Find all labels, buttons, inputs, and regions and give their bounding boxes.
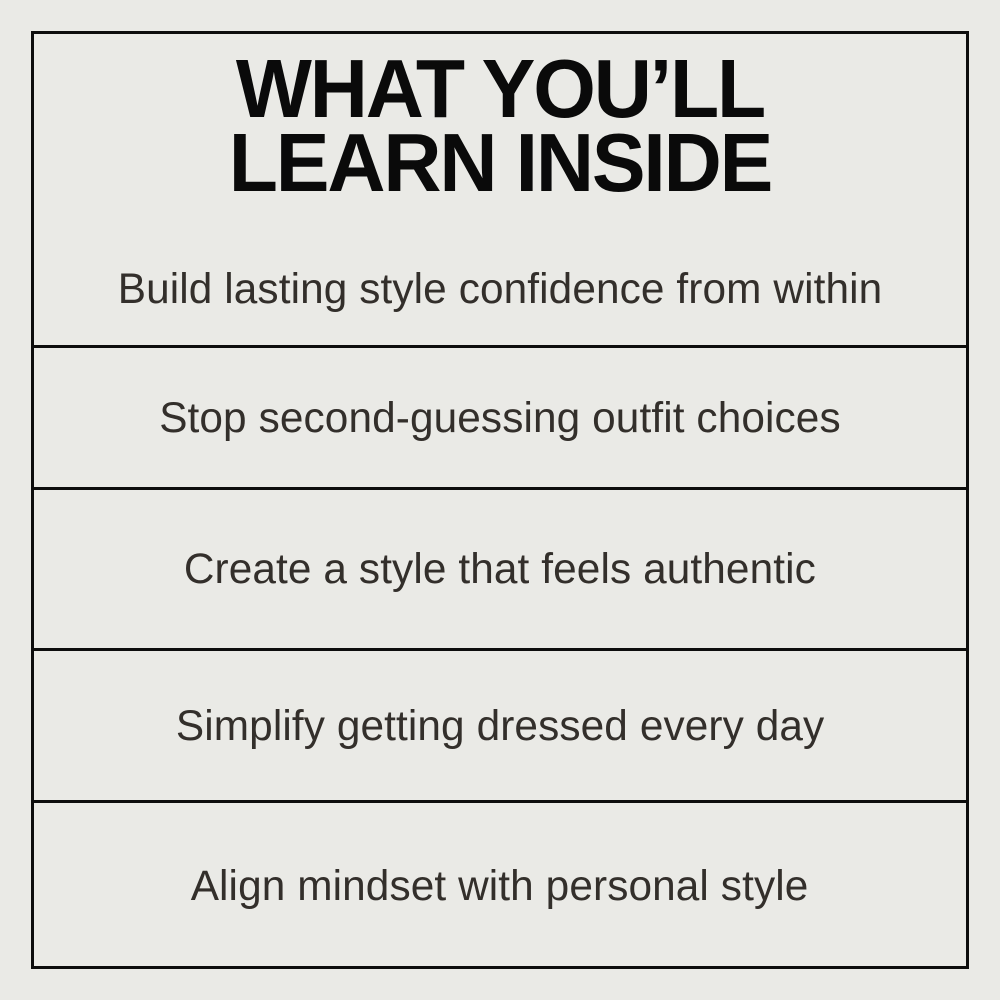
- list-item-label: Simplify getting dressed every day: [176, 700, 824, 752]
- list-item: Align mindset with personal style: [34, 803, 966, 969]
- learn-inside-card: WHAT YOU’LL LEARN INSIDE Build lasting s…: [31, 31, 969, 969]
- page-title: WHAT YOU’LL LEARN INSIDE: [34, 52, 966, 200]
- list-item: Create a style that feels authentic: [34, 490, 966, 651]
- list-item-label: Stop second-guessing outfit choices: [159, 392, 841, 444]
- heading-cell: WHAT YOU’LL LEARN INSIDE Build lasting s…: [34, 34, 966, 348]
- list-item-label: Create a style that feels authentic: [184, 543, 816, 595]
- list-item: Build lasting style confidence from with…: [34, 263, 966, 315]
- list-item: Simplify getting dressed every day: [34, 651, 966, 803]
- list-item: Stop second-guessing outfit choices: [34, 348, 966, 490]
- page-title-line-1: WHAT YOU’LL: [48, 52, 952, 126]
- list-item-label: Build lasting style confidence from with…: [41, 263, 959, 315]
- page-title-line-2: LEARN INSIDE: [48, 126, 952, 200]
- list-item-label: Align mindset with personal style: [191, 860, 809, 912]
